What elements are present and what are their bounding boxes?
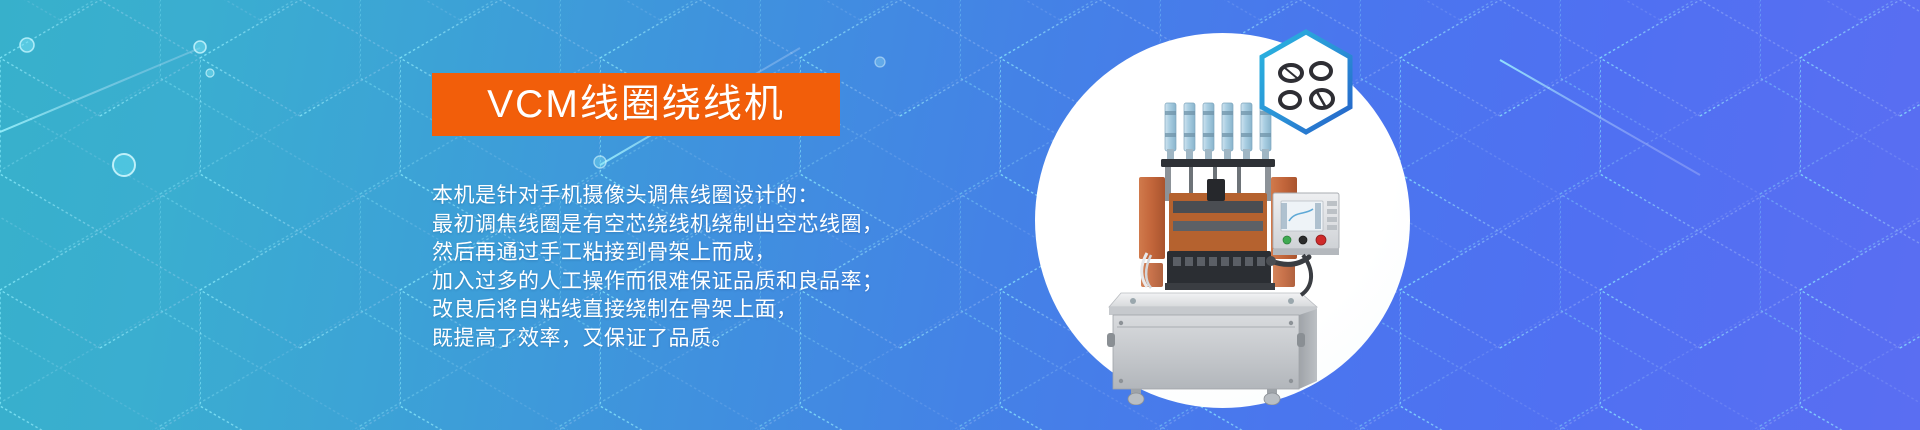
description-line: 最初调焦线圈是有空芯绕线机绕制出空芯线圈，: [432, 211, 884, 240]
description-line: 改良后将自粘线直接绕制在骨架上面，: [432, 296, 884, 325]
description-line: 加入过多的人工操作而很难保证品质和良品率；: [432, 268, 884, 297]
isometric-cube-pattern: [0, 0, 1920, 430]
description-line: 既提高了效率，又保证了品质。: [432, 325, 884, 354]
control-panel: [1273, 193, 1339, 255]
page-title: VCM线圈绕线机: [487, 85, 785, 124]
coil-sample-badge: [1255, 28, 1357, 136]
product-title-tag: VCM线圈绕线机: [432, 73, 840, 136]
description-line: 然后再通过手工粘接到骨架上而成，: [432, 239, 884, 268]
product-hero-banner: VCM线圈绕线机 本机是针对手机摄像头调焦线圈设计的： 最初调焦线圈是有空芯绕线…: [0, 0, 1920, 430]
description-line: 本机是针对手机摄像头调焦线圈设计的：: [432, 182, 884, 211]
product-description: 本机是针对手机摄像头调焦线圈设计的： 最初调焦线圈是有空芯绕线机绕制出空芯线圈，…: [432, 182, 884, 353]
